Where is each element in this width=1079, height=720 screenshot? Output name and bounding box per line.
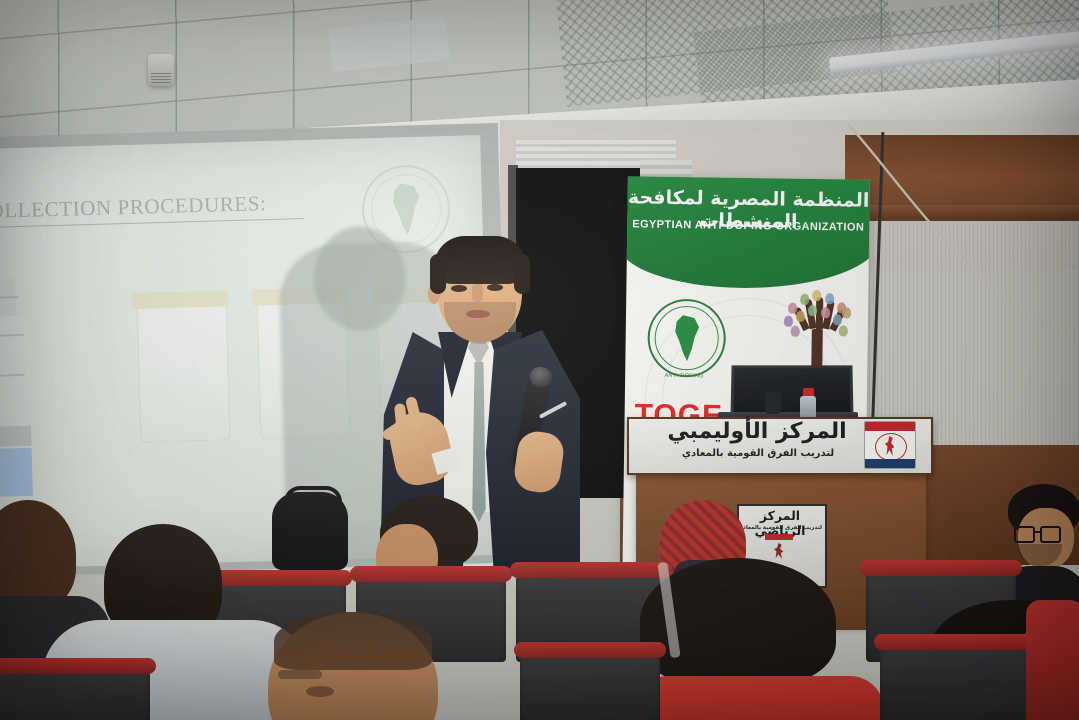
bottle-grey-band [0,426,32,447]
africa-continent-shape [386,183,425,236]
tree-handprint-leaf [791,326,800,337]
sports-center-sign-subtitle: لتدريب الفرق القومية بالمعادي [737,525,823,531]
bridge [1033,531,1040,533]
eyebrow [278,670,322,679]
slide-title: COLLECTION PROCEDURES: [0,190,304,228]
cup-body [137,306,231,442]
audience-member [258,612,538,720]
seat-trim [350,566,512,582]
eye-left [451,285,467,292]
sample-cup-icon [132,290,232,443]
tree-handprint-leaf [808,305,817,316]
podium-sign-arabic-subtitle: لتدريب الفرق القومية بالمعادي [627,448,889,459]
eye [306,686,334,697]
eyeglasses-icon [1014,526,1066,540]
sideburn-right [514,254,530,294]
lens-right [1040,526,1061,543]
podium-sign-arabic: المركز الأوليمبي [627,419,887,444]
tree-handprint-leaf [821,307,830,318]
ceiling-speaker-icon [148,54,174,86]
banner-logo-subtitle: ANTI-DOPING [649,373,719,380]
seat-trim [1026,600,1079,720]
tree-handprint-leaf [784,316,793,327]
emblem-top-band [865,422,915,431]
auditorium-seat[interactable] [520,648,660,720]
dark-cup-icon [765,392,781,414]
tree-handprint-leaf [800,294,809,305]
water-bottle-icon [800,388,816,420]
africa-continent-shape [669,315,704,361]
hair [434,236,526,284]
tree-handprint-leaf [833,314,842,325]
emblem-top-band [765,534,793,540]
mouth [466,310,490,318]
sample-bottle-icon [0,278,34,514]
olympic-center-emblem-icon [864,421,916,469]
tree-handprint-leaf [839,325,848,336]
tree-handprint-leaf [825,293,834,304]
lens-left [1014,526,1035,543]
eye-right [487,284,503,291]
seat-trim [0,658,156,674]
sideburn-left [430,254,446,294]
nose [472,284,483,302]
seat-trim [514,642,666,658]
bottle-blue-label [0,448,33,497]
hanging-cable-white [840,120,1079,380]
lecture-hall-photograph: COLLECTION PROCEDURES: [0,0,1079,720]
emblem-bottom-band [865,459,915,468]
tree-handprint-leaf [812,290,821,301]
hair [274,612,432,670]
backpack-handle [284,486,342,508]
tree-handprint-leaf [842,307,851,318]
handprint-tree-icon [781,288,854,371]
tree-handprint-leaf [788,303,797,314]
emblem-athlete-figure [774,543,785,559]
auditorium-seat[interactable] [880,640,1030,720]
red-top [634,676,884,720]
seat-trim [874,634,1036,650]
audience-member [640,558,890,720]
tree-handprint-leaf [796,311,805,322]
